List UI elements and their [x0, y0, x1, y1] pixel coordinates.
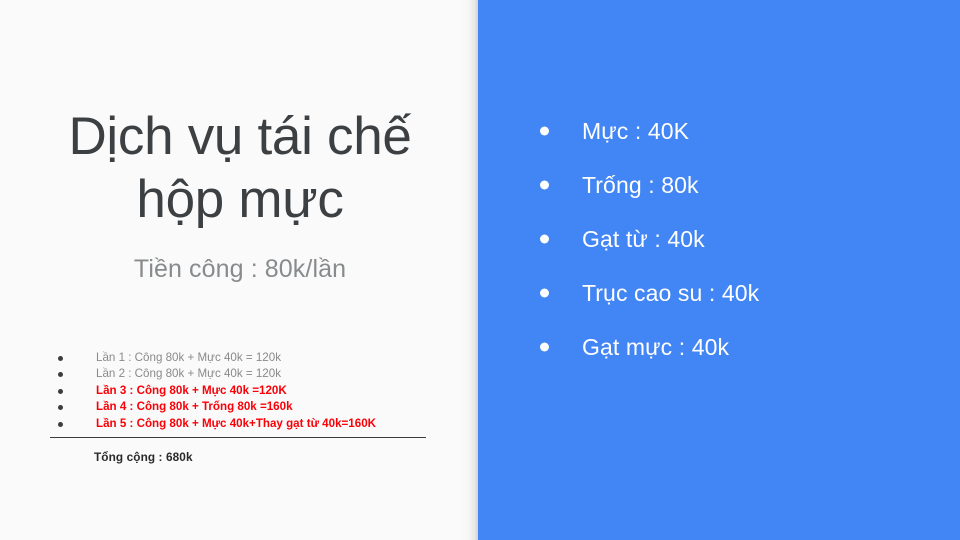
right-pricing-panel: Mực : 40K Trống : 80k Gạt từ : 40k Trục … — [478, 0, 960, 540]
left-content-panel: Dịch vụ tái chế hộp mực Tiền công : 80k/… — [0, 0, 478, 540]
total-amount-label: Tổng cộng : 680k — [94, 450, 193, 464]
presentation-slide: Dịch vụ tái chế hộp mực Tiền công : 80k/… — [0, 0, 960, 540]
list-item: Lần 3 : Công 80k + Mực 40k =120K — [52, 383, 432, 399]
list-item: Gạt từ : 40k — [534, 212, 759, 266]
slide-subtitle: Tiền công : 80k/lần — [40, 255, 440, 284]
title-block: Dịch vụ tái chế hộp mực Tiền công : 80k/… — [40, 106, 440, 284]
panel-edge-shadow — [460, 0, 478, 540]
list-item: Mực : 40K — [534, 104, 759, 158]
component-price-list: Mực : 40K Trống : 80k Gạt từ : 40k Trục … — [534, 104, 759, 374]
list-item: Lần 4 : Công 80k + Trống 80k =160k — [52, 399, 432, 415]
list-item: Lần 1 : Công 80k + Mực 40k = 120k — [52, 350, 432, 366]
service-history-list: Lần 1 : Công 80k + Mực 40k = 120k Lần 2 … — [52, 350, 432, 432]
list-item: Gạt mực : 40k — [534, 320, 759, 374]
total-divider — [50, 437, 426, 438]
list-item: Lần 5 : Công 80k + Mực 40k+Thay gạt từ 4… — [52, 416, 432, 432]
list-item: Trục cao su : 40k — [534, 266, 759, 320]
slide-title: Dịch vụ tái chế hộp mực — [40, 106, 440, 231]
list-item: Lần 2 : Công 80k + Mực 40k = 120k — [52, 366, 432, 382]
list-item: Trống : 80k — [534, 158, 759, 212]
